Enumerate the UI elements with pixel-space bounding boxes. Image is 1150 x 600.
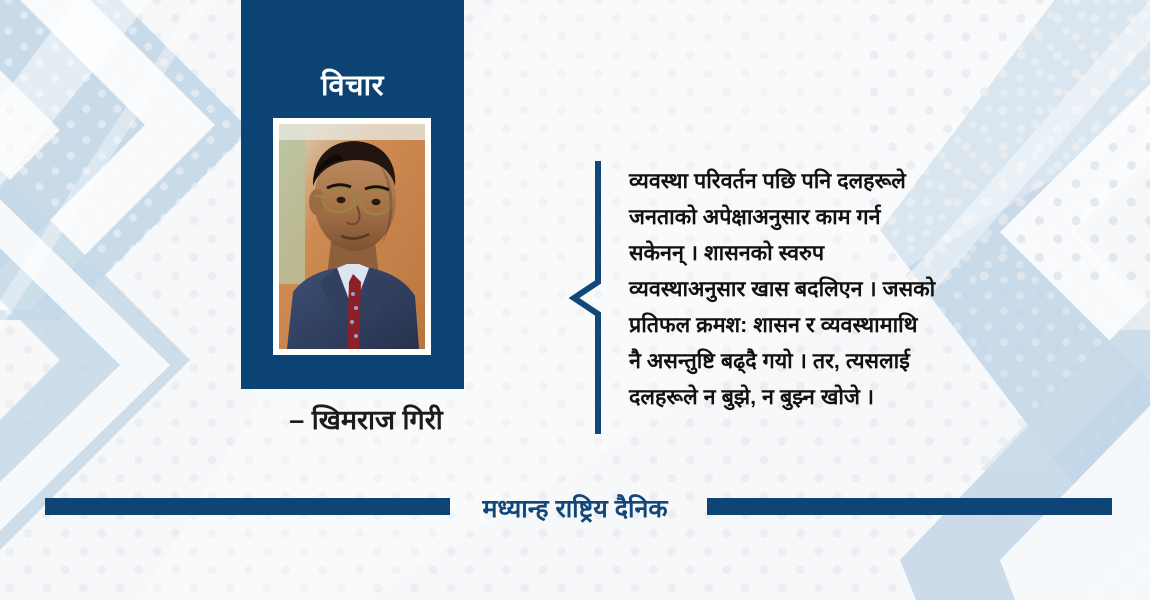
portrait-photo [279,124,425,349]
quote-text: व्यवस्था परिवर्तन पछि पनि दलहरूले जनताको… [629,163,1049,415]
photo-frame [273,118,431,355]
author-name: – खिमराज गिरी [241,400,491,437]
quote-line: व्यवस्था परिवर्तन पछि पनि दलहरूले [629,163,1049,199]
quote-line: दलहरूले न बुझे, न बुझ्न खोजे । [629,379,1049,415]
page-title: विचार [241,72,464,101]
quote-line: व्यवस्थाअनुसार खास बदलिएन । जसको [629,271,1049,307]
quote-card: विचार [0,0,1150,600]
quote-line: प्रतिफल क्रमश: शासन र व्यवस्थामाथि [629,307,1049,343]
brace-glyph [560,160,620,435]
portrait-illustration [279,124,425,349]
quote-line: नै असन्तुष्टि बढ्दै गयो । तर, त्यसलाई [629,343,1049,379]
quote-brace-icon [560,160,620,435]
footer-title: मध्यान्ह राष्ट्रिय दैनिक [0,486,1150,530]
footer: मध्यान्ह राष्ट्रिय दैनिक [0,486,1150,530]
quote-line: जनताको अपेक्षाअनुसार काम गर्न [629,199,1049,235]
portrait-panel: विचार [241,0,464,389]
quote-line: सकेनन् । शासनको स्वरुप [629,235,1049,271]
